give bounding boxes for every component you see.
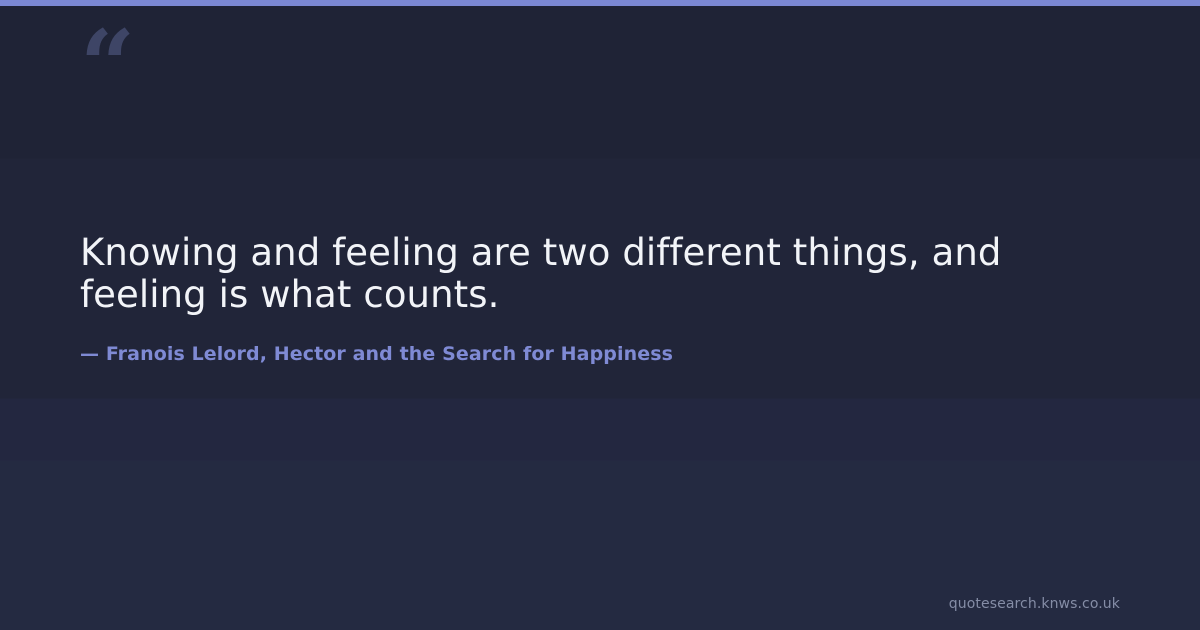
quote-content: Knowing and feeling are two different th… (80, 232, 1040, 366)
source-site-url: quotesearch.knws.co.uk (949, 595, 1120, 613)
quote-text: Knowing and feeling are two different th… (80, 232, 1015, 316)
quote-card: “ Knowing and feeling are two different … (0, 0, 1200, 630)
quotation-mark-icon: “ (80, 18, 150, 90)
quote-attribution: — Franois Lelord, Hector and the Search … (80, 316, 1040, 366)
top-accent-bar (0, 0, 1200, 6)
